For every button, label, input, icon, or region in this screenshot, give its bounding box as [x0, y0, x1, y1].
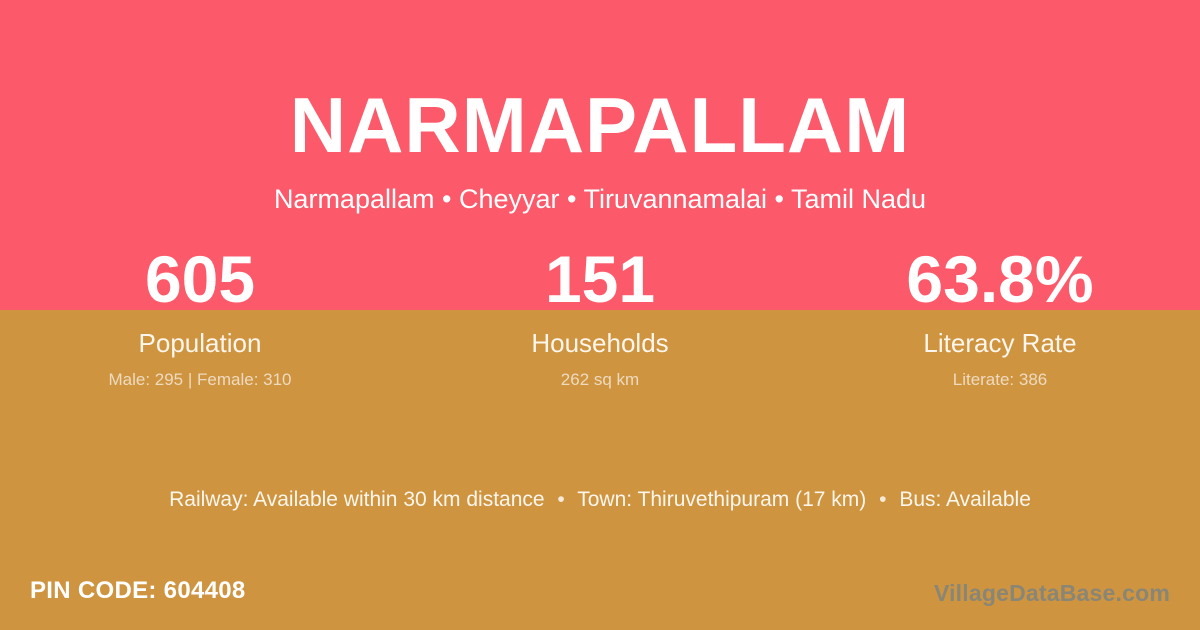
pin-code-label: PIN CODE: 604408	[30, 576, 246, 606]
stat-literacy-rate: 63.8% Literacy Rate Literate: 386	[800, 248, 1200, 390]
footer: PIN CODE: 604408 VillageDataBase.com	[0, 560, 1200, 630]
page-title: NARMAPALLAM	[0, 78, 1200, 172]
amenity-separator: •	[550, 488, 571, 511]
breadcrumb: Narmapallam • Cheyyar • Tiruvannamalai •…	[0, 182, 1200, 216]
site-brand: VillageDataBase.com	[934, 578, 1170, 608]
stats-row: 605 Population Male: 295 | Female: 310 1…	[0, 248, 1200, 390]
amenity-town: Town: Thiruvethipuram (17 km)	[577, 488, 866, 511]
amenities-line: Railway: Available within 30 km distance…	[0, 486, 1200, 514]
stat-value: 151	[400, 248, 800, 310]
stat-sublabel: Literate: 386	[800, 370, 1200, 390]
amenity-railway: Railway: Available within 30 km distance	[169, 488, 544, 511]
stat-population: 605 Population Male: 295 | Female: 310	[0, 248, 400, 390]
stat-label: Households	[400, 329, 800, 357]
amenity-separator: •	[872, 488, 893, 511]
stat-label: Literacy Rate	[800, 329, 1200, 357]
stat-value: 63.8%	[800, 248, 1200, 310]
stat-label: Population	[0, 329, 400, 357]
stat-households: 151 Households 262 sq km	[400, 248, 800, 390]
amenity-bus: Bus: Available	[899, 488, 1031, 511]
stat-sublabel: 262 sq km	[400, 370, 800, 390]
village-info-card: NARMAPALLAM Narmapallam • Cheyyar • Tiru…	[0, 0, 1200, 630]
stat-sublabel: Male: 295 | Female: 310	[0, 370, 400, 390]
stat-value: 605	[0, 248, 400, 310]
